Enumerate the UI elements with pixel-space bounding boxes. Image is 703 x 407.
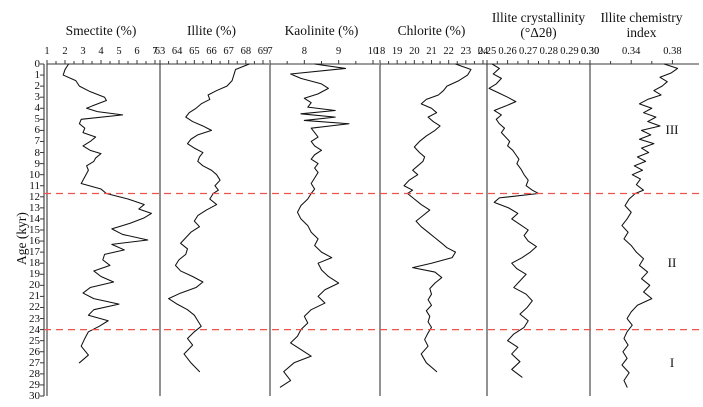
x-tick-label: 4	[98, 46, 103, 57]
zone-label-II: II	[668, 255, 677, 271]
x-tick-label: 0.25	[478, 46, 496, 57]
x-tick-label: 20	[409, 46, 420, 57]
data-curve-4	[404, 64, 471, 372]
x-tick-label: 9	[336, 46, 341, 57]
x-tick-label: 0.34	[622, 46, 640, 57]
y-axis-title: Age (kyr)	[14, 212, 30, 265]
x-tick-label: 65	[189, 46, 200, 57]
x-tick-label: 64	[172, 46, 183, 57]
data-curve-1	[63, 64, 151, 363]
zone-label-I: I	[670, 355, 674, 371]
data-curve-3	[280, 64, 349, 387]
x-tick-label: 21	[426, 46, 437, 57]
figure-root: 0123456789101112131415161718192021222324…	[0, 0, 703, 407]
x-tick-label: 8	[302, 46, 307, 57]
x-tick-label: 67	[223, 46, 234, 57]
zone-label-III: III	[666, 122, 679, 138]
x-tick-label: 7	[267, 46, 272, 57]
x-tick-label: 0.27	[519, 46, 537, 57]
data-curve-6	[622, 64, 678, 387]
x-tick-label: 0.30	[581, 46, 599, 57]
plot-canvas	[0, 0, 703, 407]
x-tick-label: 1	[44, 46, 49, 57]
x-tick-label: 68	[241, 46, 252, 57]
y-tick-label: 30	[18, 390, 40, 402]
panel-title-6: Illite chemistry	[572, 10, 703, 25]
x-tick-label: 3	[80, 46, 85, 57]
x-tick-label: 0.26	[498, 46, 516, 57]
panel-subtitle-6: index	[572, 25, 703, 40]
x-tick-label: 66	[206, 46, 217, 57]
x-tick-label: 18	[375, 46, 386, 57]
x-tick-label: 23	[461, 46, 472, 57]
x-tick-label: 0.29	[560, 46, 578, 57]
x-tick-label: 6	[134, 46, 139, 57]
x-tick-label: 2	[62, 46, 67, 57]
x-tick-label: 63	[155, 46, 166, 57]
data-curve-2	[169, 64, 250, 372]
x-tick-label: 22	[443, 46, 454, 57]
x-tick-label: 0.38	[663, 46, 681, 57]
x-tick-label: 0.28	[540, 46, 558, 57]
x-tick-label: 19	[392, 46, 403, 57]
x-tick-label: 5	[116, 46, 121, 57]
